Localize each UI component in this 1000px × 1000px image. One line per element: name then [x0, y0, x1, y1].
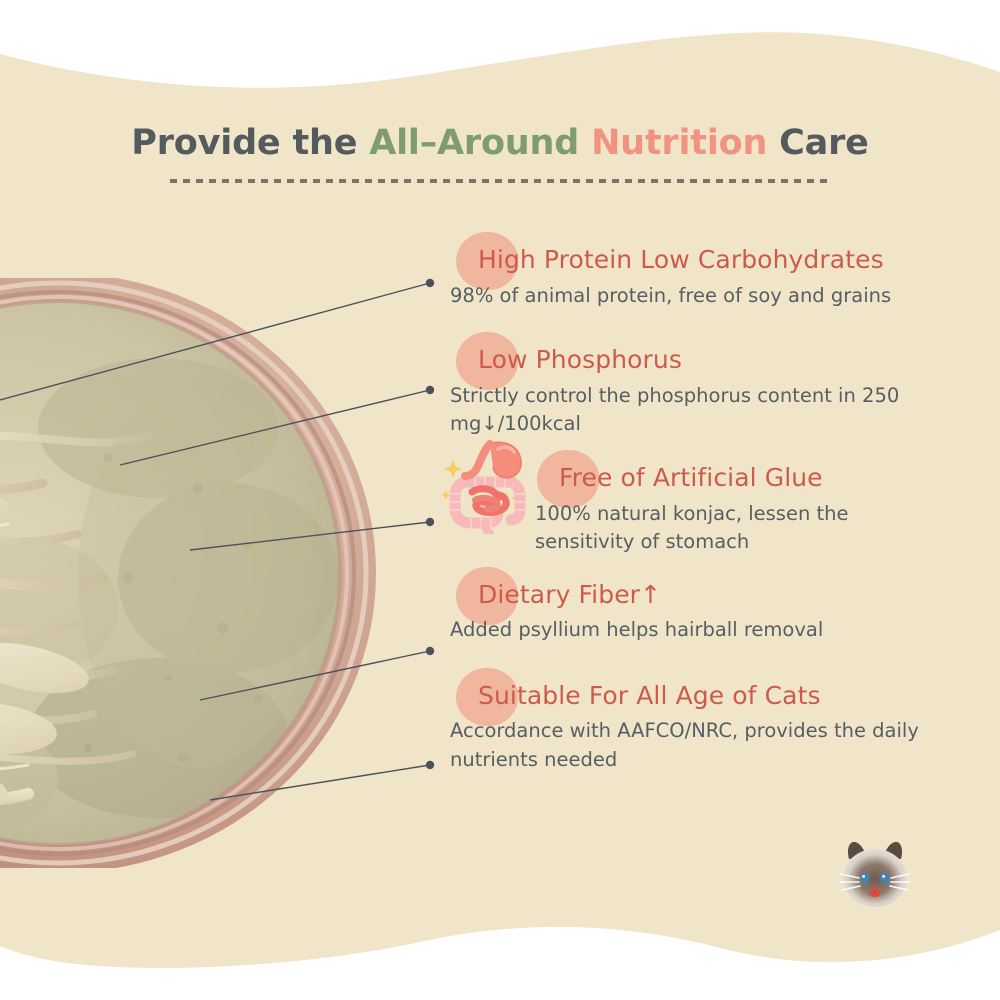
feature-body: Accordance with AAFCO/NRC, provides the …	[447, 717, 920, 774]
feature-heading: Dietary Fiber↑	[447, 581, 967, 610]
title-dashed-divider	[170, 179, 830, 183]
feature-body: 100% natural konjac, lessen the sensitiv…	[447, 500, 935, 557]
title-segment-2: All–Around	[369, 123, 579, 163]
feature-item-low-phosphorus: Low Phosphorus Strictly control the phos…	[447, 346, 967, 438]
cat-head	[843, 849, 907, 907]
feature-body: Added psyllium helps hairball removal	[447, 616, 920, 644]
nutrition-infographic-poster: Provide the All–Around Nutrition Care Hi…	[0, 0, 1000, 1000]
feature-heading: Free of Artificial Glue	[447, 464, 967, 493]
feature-heading: High Protein Low Carbohydrates	[447, 246, 967, 275]
title-segment-5: Care	[767, 123, 869, 163]
feature-item-dietary-fiber: Dietary Fiber↑ Added psyllium helps hair…	[447, 581, 967, 645]
siamese-cat-face-icon	[833, 833, 917, 915]
feature-item-high-protein: High Protein Low Carbohydrates 98% of an…	[447, 246, 967, 310]
feature-item-suitable-all-ages: Suitable For All Age of Cats Accordance …	[447, 682, 967, 774]
cat-eye-left	[860, 873, 869, 883]
page-title: Provide the All–Around Nutrition Care	[0, 124, 1000, 163]
title-block: Provide the All–Around Nutrition Care	[0, 124, 1000, 183]
title-segment-1: Provide the	[131, 123, 369, 163]
cat-eye-right	[880, 873, 889, 883]
feature-heading: Suitable For All Age of Cats	[447, 682, 967, 711]
feature-list: High Protein Low Carbohydrates 98% of an…	[447, 246, 967, 774]
feature-heading: Low Phosphorus	[447, 346, 967, 375]
feature-item-free-of-artificial-glue: Free of Artificial Glue 100% natural kon…	[447, 464, 967, 556]
feature-body: 98% of animal protein, free of soy and g…	[447, 282, 920, 310]
title-segment-4: Nutrition	[591, 123, 767, 163]
feature-body: Strictly control the phosphorus content …	[447, 382, 920, 439]
title-segment-3	[579, 123, 591, 163]
